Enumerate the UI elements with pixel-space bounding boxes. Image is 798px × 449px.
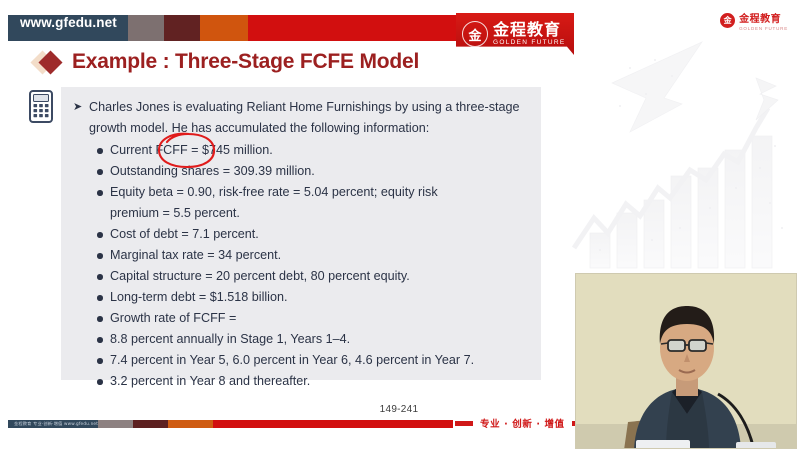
- chevron-right-icon: ➤: [73, 97, 89, 139]
- brand-seal-icon: 金: [462, 21, 488, 47]
- list-item: Growth rate of FCFF =: [97, 308, 527, 329]
- list-item: Capital structure = 20 percent debt, 80 …: [97, 266, 527, 287]
- chart-arrow-watermark: [560, 28, 798, 278]
- instructor-video-feed[interactable]: [575, 273, 797, 449]
- list-item: premium = 5.5 percent.: [97, 203, 527, 224]
- footer-micro-text: 金程教育 专业·创新·增值 www.gfedu.net: [14, 420, 174, 428]
- list-item: Equity beta = 0.90, risk-free rate = 5.0…: [97, 182, 527, 203]
- slogan-dash-left-icon: [455, 421, 473, 426]
- brand-name-en: GOLDEN FUTURE: [493, 40, 566, 47]
- header-segment-orange: [200, 15, 248, 41]
- list-item: 3.2 percent in Year 8 and thereafter.: [97, 371, 527, 392]
- footer-slogan-text: 专业 · 创新 · 增值: [480, 416, 565, 430]
- site-url-label: www.gfedu.net: [8, 15, 128, 30]
- list-item: Long-term debt = $1.518 billion.: [97, 287, 527, 308]
- corner-brand-logo: 金 金程教育 GOLDEN FUTURE: [720, 10, 788, 31]
- corner-seal-icon: 金: [720, 13, 735, 28]
- video-frame-image: [576, 274, 797, 449]
- bullet-list: Current FCFF = $745 million.Outstanding …: [73, 140, 527, 392]
- footer-segment-red: [213, 420, 453, 428]
- corner-brand-name-en: GOLDEN FUTURE: [739, 26, 788, 31]
- lead-paragraph-text: Charles Jones is evaluating Reliant Home…: [89, 97, 527, 139]
- header-segment-url: www.gfedu.net: [8, 15, 128, 41]
- brand-name-cn: 金程教育: [493, 22, 566, 38]
- list-item: 8.8 percent annually in Stage 1, Years 1…: [97, 329, 527, 350]
- list-item: Outstanding shares = 309.39 million.: [97, 161, 527, 182]
- header-segment-maroon: [164, 15, 200, 41]
- footer-slogan-row: 专业 · 创新 · 增值: [455, 414, 590, 432]
- content-panel: ➤ Charles Jones is evaluating Reliant Ho…: [61, 87, 541, 380]
- presentation-slide: www.gfedu.net 金 金程教育 GOLDEN FUTURE 金 金程教…: [0, 0, 798, 449]
- header-segment-gray: [128, 15, 164, 41]
- calculator-icon: [29, 90, 53, 123]
- brand-ribbon-logo: 金 金程教育 GOLDEN FUTURE: [456, 13, 574, 55]
- lead-paragraph: ➤ Charles Jones is evaluating Reliant Ho…: [73, 97, 527, 139]
- corner-brand-name-cn: 金程教育: [739, 10, 788, 25]
- footer-segment-orange: [168, 420, 213, 428]
- list-item: Current FCFF = $745 million.: [97, 140, 527, 161]
- list-item: Marginal tax rate = 34 percent.: [97, 245, 527, 266]
- slide-title-row: Example : Three-Stage FCFE Model: [34, 50, 419, 74]
- list-item: Cost of debt = 7.1 percent.: [97, 224, 527, 245]
- list-item: 7.4 percent in Year 5, 6.0 percent in Ye…: [97, 350, 527, 371]
- page-title: Example : Three-Stage FCFE Model: [72, 50, 419, 74]
